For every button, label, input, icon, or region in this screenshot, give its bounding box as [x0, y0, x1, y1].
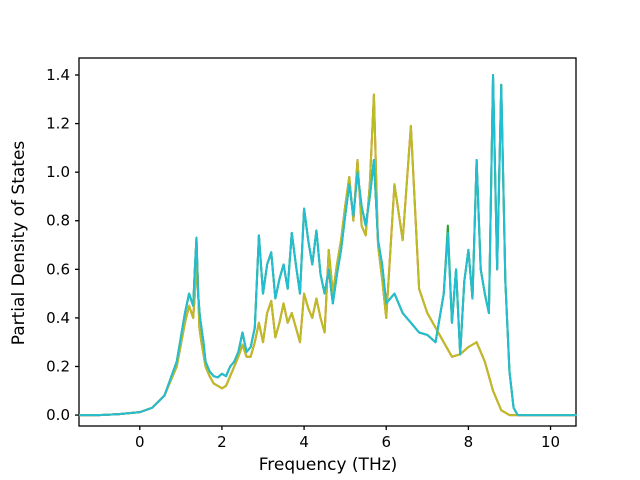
y-tick-label: 1.0 — [46, 163, 70, 181]
x-tick-label: 0 — [135, 433, 145, 451]
y-tick-label: 1.4 — [46, 66, 70, 84]
y-tick-label: 1.2 — [46, 115, 70, 133]
y-tick-label: 0.8 — [46, 212, 70, 230]
figure-background — [0, 0, 640, 480]
y-axis-title: Partial Density of States — [9, 141, 29, 346]
x-tick-label: 2 — [217, 433, 227, 451]
plot-canvas: 02468100.00.20.40.60.81.01.21.4 Frequenc… — [0, 0, 640, 480]
y-tick-label: 0.6 — [46, 260, 70, 278]
x-axis-title: Frequency (THz) — [259, 455, 398, 475]
x-tick-label: 8 — [464, 433, 474, 451]
x-tick-label: 10 — [541, 433, 560, 451]
x-tick-label: 4 — [299, 433, 309, 451]
y-tick-label: 0.0 — [46, 406, 70, 424]
pdos-figure: 02468100.00.20.40.60.81.01.21.4 Frequenc… — [0, 0, 640, 480]
x-tick-label: 6 — [381, 433, 391, 451]
y-tick-label: 0.2 — [46, 357, 70, 375]
y-tick-label: 0.4 — [46, 309, 70, 327]
